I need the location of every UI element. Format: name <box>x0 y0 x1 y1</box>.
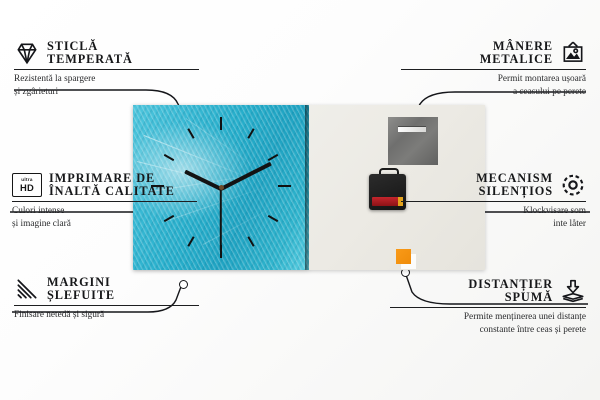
clock-tick <box>164 154 175 161</box>
ultra-hd-icon-main-label: HD <box>20 183 34 192</box>
foam-spacer <box>396 249 411 264</box>
clock-hand-hub <box>219 185 224 190</box>
ultra-hd-icon: ultra HD <box>12 173 42 197</box>
callout-description: Permite menținerea unei distanțe constan… <box>390 311 586 336</box>
callout-polished-edges: MARGINI ȘLEFUITE Finisare netedă și sigu… <box>14 276 199 322</box>
callout-title-line: SPUMĂ <box>505 291 553 304</box>
callout-title-line: TEMPERATĂ <box>47 53 133 66</box>
callout-foam-spacer: DISTANȚIER SPUMĂ Permite menținerea unei… <box>390 278 586 336</box>
callout-print-quality: ultra HD IMPRIMARE DE ÎNALTĂ CALITATE Cu… <box>12 172 197 230</box>
callout-rule <box>14 305 199 306</box>
clock-tick <box>247 128 254 139</box>
gear-icon <box>560 173 586 197</box>
callout-rule <box>401 201 586 202</box>
callout-title-line: ȘLEFUITE <box>47 289 115 302</box>
metal-hanger-plate <box>388 117 438 165</box>
hanging-frame-icon <box>560 41 586 65</box>
clock-tick <box>268 215 279 222</box>
clock-hand-second <box>220 189 222 251</box>
callout-silent-mechanism: MECANISM SILENȚIOS Klockvisare som inte … <box>401 172 586 230</box>
clock-tick <box>187 128 194 139</box>
diamond-icon <box>14 41 40 65</box>
callout-rule <box>14 69 199 70</box>
hanger-slot <box>398 126 426 132</box>
callout-metal-handles: MÂNERE METALICE Permit montarea ușoară a… <box>401 40 586 98</box>
infographic-canvas: STICLĂ TEMPERATĂ Rezistentă la spargere … <box>0 0 600 400</box>
callout-rule <box>390 307 586 308</box>
clock-tick <box>187 236 194 247</box>
clock-tick <box>247 236 254 247</box>
callout-rule <box>12 201 197 202</box>
callout-rule <box>401 69 586 70</box>
clock-tick <box>268 154 279 161</box>
polished-edges-icon <box>14 277 40 301</box>
clock-tick <box>220 117 222 130</box>
callout-title-line: METALICE <box>480 53 553 66</box>
callout-title-line: ÎNALTĂ CALITATE <box>49 185 175 198</box>
callout-title-line: SILENȚIOS <box>479 185 553 198</box>
callout-description: Culori intense și imagine clară <box>12 205 197 230</box>
callout-description: Finisare netedă și sigură <box>14 309 199 321</box>
down-arrow-stack-icon <box>560 279 586 303</box>
clock-tick <box>278 185 291 187</box>
callout-description: Rezistentă la spargere și zgârieturi <box>14 73 199 98</box>
callout-description: Permit montarea ușoară a ceasului pe per… <box>401 73 586 98</box>
callout-description: Klockvisare som inte låter <box>401 205 586 230</box>
callout-tempered-glass: STICLĂ TEMPERATĂ Rezistentă la spargere … <box>14 40 199 98</box>
